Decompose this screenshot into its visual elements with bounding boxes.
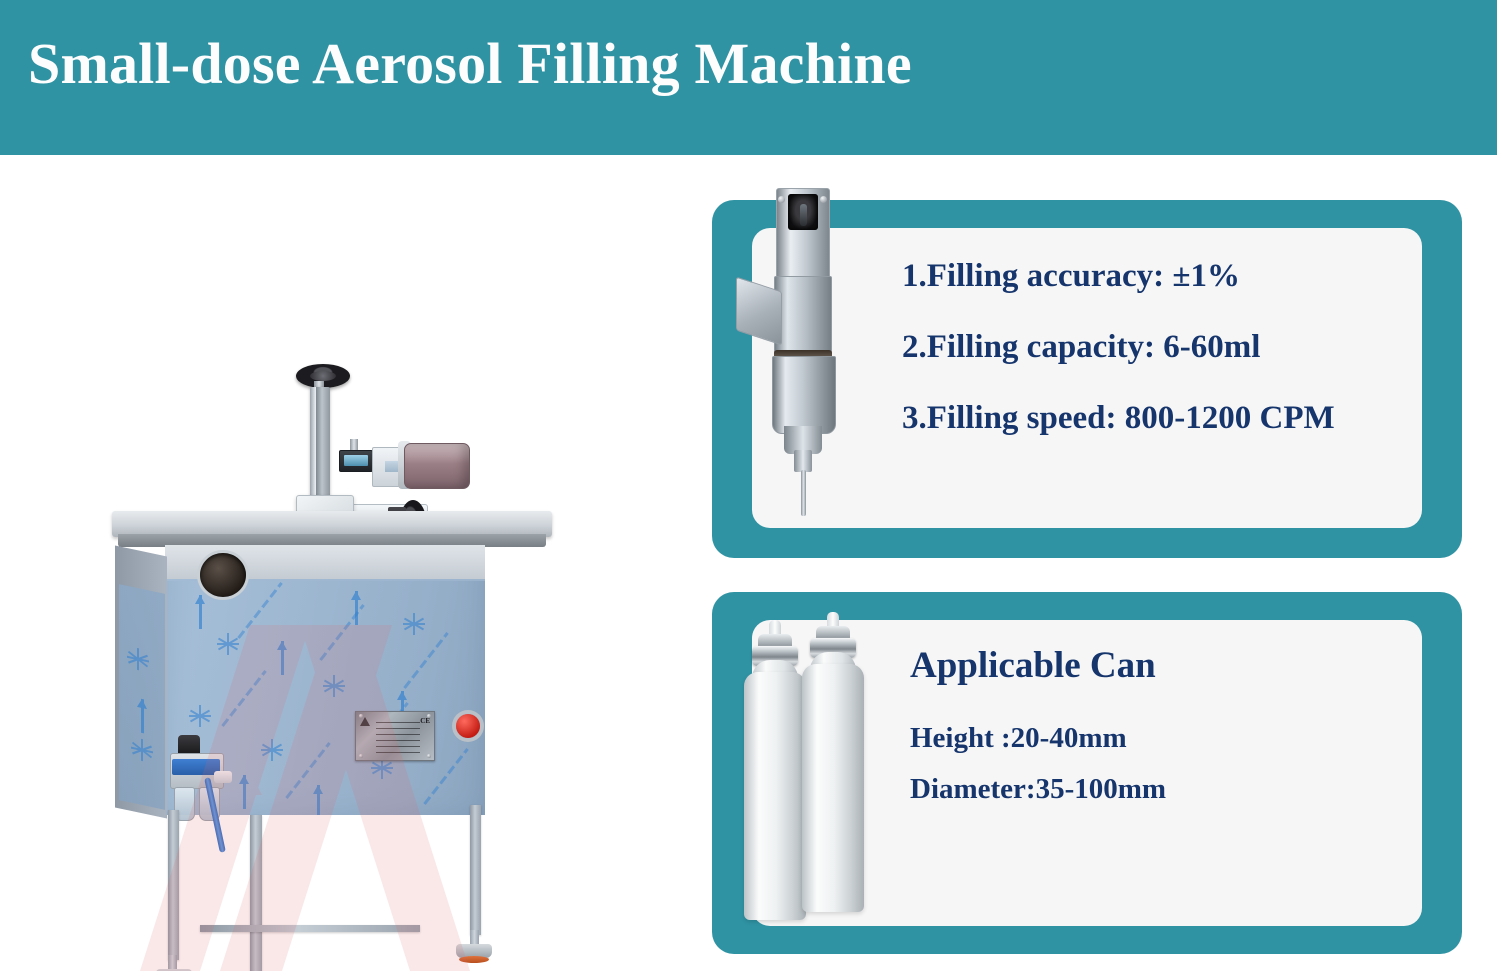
nozzle-tip: [794, 450, 812, 472]
cabinet-leg-center: [250, 815, 262, 971]
cabinet-leg-front-left: [168, 810, 179, 960]
can-body: [744, 672, 806, 920]
nozzle-lower-body: [772, 356, 836, 434]
applicable-can-card: Applicable Can Height :20-40mm Diameter:…: [712, 592, 1462, 954]
leveling-foot-right: [456, 944, 492, 958]
pressure-gauge: [339, 450, 373, 472]
filling-nozzle-photo: [732, 188, 872, 528]
specs-card: 1.Filling accuracy: ±1% 2.Filling capaci…: [712, 200, 1462, 558]
aerosol-can-left: [744, 620, 806, 920]
regulator-knob[interactable]: [178, 735, 200, 755]
nozzle-needle: [801, 470, 806, 516]
applicable-can-heading: Applicable Can: [910, 644, 1156, 687]
header-banner: Small-dose Aerosol Filling Machine: [0, 0, 1497, 155]
aerosol-can-right: [802, 612, 864, 912]
nozzle-port: [788, 194, 818, 230]
specs-list: 1.Filling accuracy: ±1% 2.Filling capaci…: [902, 260, 1362, 473]
page-title: Small-dose Aerosol Filling Machine: [28, 34, 1228, 95]
machine-product-photo: CE: [0, 155, 700, 971]
cabinet-leg-right: [470, 805, 481, 935]
emergency-stop-button[interactable]: [456, 714, 480, 738]
vent-hole: [200, 553, 246, 597]
pedal-cable: [292, 950, 428, 971]
spec-line-capacity: 2.Filling capacity: 6-60ml: [902, 331, 1362, 364]
spec-plate: CE: [355, 711, 435, 761]
air-filter-muffler: [404, 443, 470, 489]
spec-line-speed: 3.Filling speed: 800-1200 CPM: [902, 402, 1362, 435]
cabinet-cross-brace: [200, 925, 420, 932]
can-body: [802, 664, 864, 912]
can-line-height: Height :20-40mm: [910, 724, 1166, 753]
spec-line-accuracy: 1.Filling accuracy: ±1%: [902, 260, 1362, 293]
can-line-diameter: Diameter:35-100mm: [910, 775, 1166, 804]
applicable-can-list: Height :20-40mm Diameter:35-100mm: [910, 724, 1166, 826]
